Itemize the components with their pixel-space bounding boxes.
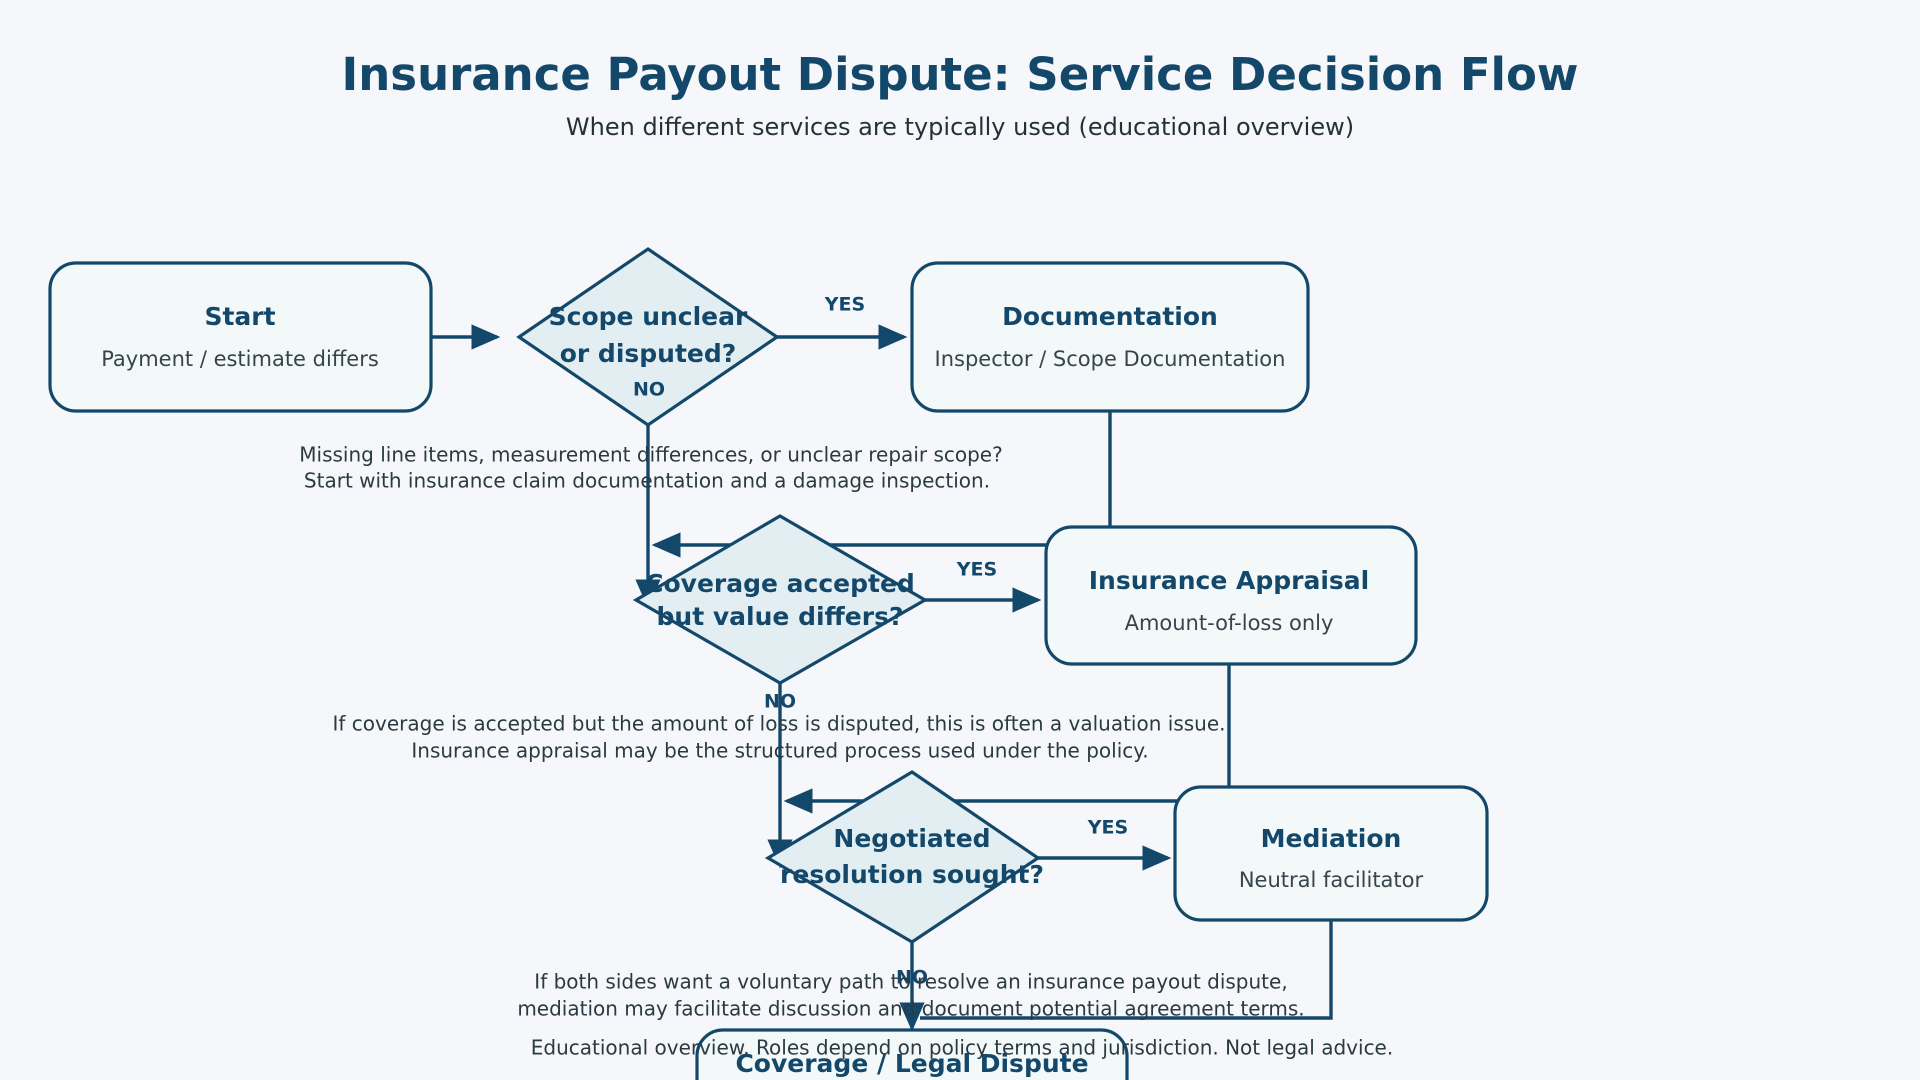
annotation-3-line-1: If both sides want a voluntary path to r… bbox=[534, 970, 1287, 994]
node-documentation-subtitle: Inspector / Scope Documentation bbox=[935, 347, 1286, 371]
node-mediation-subtitle: Neutral facilitator bbox=[1239, 868, 1424, 892]
annotation-1-line-2: Start with insurance claim documentation… bbox=[304, 469, 990, 493]
edge-label-coverage-yes: YES bbox=[956, 559, 997, 581]
decision-scope-line1: Scope unclear bbox=[549, 302, 748, 331]
annotation-footer: Educational overview. Roles depend on po… bbox=[531, 1036, 1393, 1060]
decision-coverage[interactable]: Coverage accepted but value differs? bbox=[636, 516, 925, 683]
annotation-2-line-2: Insurance appraisal may be the structure… bbox=[411, 739, 1148, 763]
annotation-1-line-1: Missing line items, measurement differen… bbox=[299, 443, 1002, 467]
node-appraisal[interactable]: Insurance Appraisal Amount-of-loss only bbox=[1046, 527, 1416, 664]
decision-negotiated-line1: Negotiated bbox=[833, 824, 990, 853]
node-mediation[interactable]: Mediation Neutral facilitator bbox=[1175, 787, 1487, 920]
node-documentation-title: Documentation bbox=[1002, 302, 1218, 331]
edge-label-coverage-no: NO bbox=[764, 691, 796, 713]
flowchart-canvas: Insurance Payout Dispute: Service Decisi… bbox=[0, 0, 1920, 1080]
node-start[interactable]: Start Payment / estimate differs bbox=[50, 263, 431, 411]
decision-negotiated-line2: resolution sought? bbox=[780, 860, 1044, 889]
edge-label-scope-no: NO bbox=[633, 379, 665, 401]
decision-scope-line2: or disputed? bbox=[560, 339, 737, 368]
decision-coverage-line1: Coverage accepted bbox=[645, 569, 915, 598]
node-mediation-title: Mediation bbox=[1261, 824, 1402, 853]
node-appraisal-title: Insurance Appraisal bbox=[1089, 566, 1369, 595]
flow-diagram: Start Payment / estimate differs Scope u… bbox=[0, 0, 1920, 1080]
edge-label-negotiated-yes: YES bbox=[1087, 817, 1128, 839]
annotation-3-line-2: mediation may facilitate discussion and … bbox=[517, 997, 1304, 1021]
decision-negotiated[interactable]: Negotiated resolution sought? bbox=[768, 772, 1044, 942]
node-documentation[interactable]: Documentation Inspector / Scope Document… bbox=[912, 263, 1308, 411]
node-start-subtitle: Payment / estimate differs bbox=[101, 347, 379, 371]
decision-coverage-line2: but value differs? bbox=[657, 602, 904, 631]
edge-label-scope-yes: YES bbox=[824, 294, 865, 316]
node-appraisal-subtitle: Amount-of-loss only bbox=[1125, 611, 1334, 635]
annotation-2-line-1: If coverage is accepted but the amount o… bbox=[332, 712, 1225, 736]
node-start-title: Start bbox=[204, 302, 275, 331]
